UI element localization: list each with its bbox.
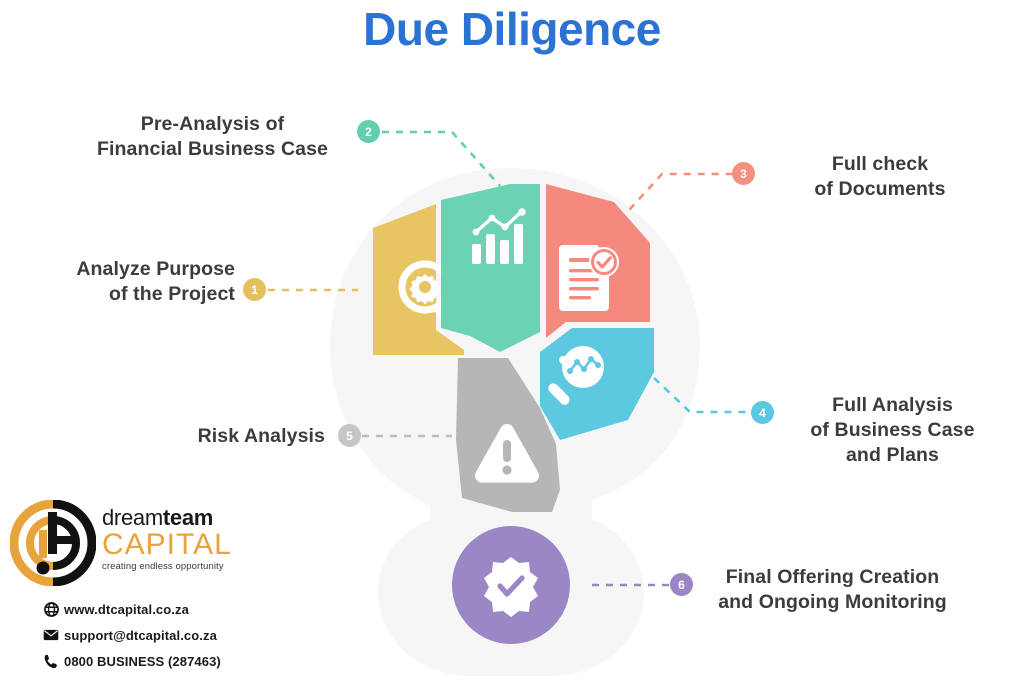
step-label-6-line1: Final Offering Creation xyxy=(695,565,970,590)
logo-wordmark: dreamteam CAPITAL creating endless oppor… xyxy=(102,506,232,572)
step-marker-3-number: 3 xyxy=(740,168,747,180)
logo-brand-part1: dream xyxy=(102,505,163,530)
step-label-1: Analyze Purpose of the Project xyxy=(20,257,235,307)
step-label-5-line1: Risk Analysis xyxy=(130,424,325,449)
step-marker-2[interactable]: 2 xyxy=(357,120,380,143)
step-label-4: Full Analysis of Business Case and Plans xyxy=(780,393,1005,468)
segment-3[interactable] xyxy=(546,184,650,338)
step-label-6: Final Offering Creation and Ongoing Moni… xyxy=(695,565,970,615)
segment-2[interactable] xyxy=(441,184,540,352)
step-label-3-line1: Full check xyxy=(760,152,1000,177)
contact-row-email: support@dtcapital.co.za xyxy=(38,624,318,646)
globe-icon xyxy=(38,602,64,617)
step-label-6-line2: and Ongoing Monitoring xyxy=(695,590,970,615)
company-logo: dreamteam CAPITAL creating endless oppor… xyxy=(10,498,260,590)
step-label-4-line1: Full Analysis xyxy=(780,393,1005,418)
contact-block: www.dtcapital.co.za support@dtcapital.co… xyxy=(38,598,318,676)
connector-3 xyxy=(620,174,734,220)
step-marker-3[interactable]: 3 xyxy=(732,162,755,185)
contact-website-text[interactable]: www.dtcapital.co.za xyxy=(64,602,189,617)
contact-row-website: www.dtcapital.co.za xyxy=(38,598,318,620)
step-marker-5[interactable]: 5 xyxy=(338,424,361,447)
step-marker-2-number: 2 xyxy=(365,126,372,138)
step-label-2: Pre-Analysis of Financial Business Case xyxy=(60,112,365,162)
step-label-3: Full check of Documents xyxy=(760,152,1000,202)
step-label-2-line1: Pre-Analysis of xyxy=(60,112,365,137)
segment-6[interactable] xyxy=(452,526,570,644)
contact-phone-text[interactable]: 0800 BUSINESS (287463) xyxy=(64,654,221,669)
logo-brand-line1: dreamteam xyxy=(102,506,232,530)
logo-tagline: creating endless opportunity xyxy=(102,561,232,572)
step-label-4-line3: and Plans xyxy=(780,443,1005,468)
step-label-1-line1: Analyze Purpose xyxy=(20,257,235,282)
phone-icon xyxy=(38,654,64,669)
contact-email-text[interactable]: support@dtcapital.co.za xyxy=(64,628,217,643)
envelope-icon xyxy=(38,629,64,641)
step-marker-4[interactable]: 4 xyxy=(751,401,774,424)
logo-brand-line2: CAPITAL xyxy=(102,530,232,560)
logo-brand-part2: team xyxy=(163,505,213,530)
step-label-5: Risk Analysis xyxy=(130,424,325,449)
step-label-1-line2: of the Project xyxy=(20,282,235,307)
step-label-3-line2: of Documents xyxy=(760,177,1000,202)
step-marker-4-number: 4 xyxy=(759,407,766,419)
step-marker-6-number: 6 xyxy=(678,579,685,591)
infographic-canvas: Due Diligence xyxy=(0,0,1024,689)
step-marker-5-number: 5 xyxy=(346,430,353,442)
step-marker-1-number: 1 xyxy=(251,284,258,296)
step-marker-1[interactable]: 1 xyxy=(243,278,266,301)
contact-row-phone: 0800 BUSINESS (287463) xyxy=(38,650,318,672)
step-marker-6[interactable]: 6 xyxy=(670,573,693,596)
logo-mark-icon xyxy=(10,500,96,586)
step-label-2-line2: Financial Business Case xyxy=(60,137,365,162)
step-label-4-line2: of Business Case xyxy=(780,418,1005,443)
